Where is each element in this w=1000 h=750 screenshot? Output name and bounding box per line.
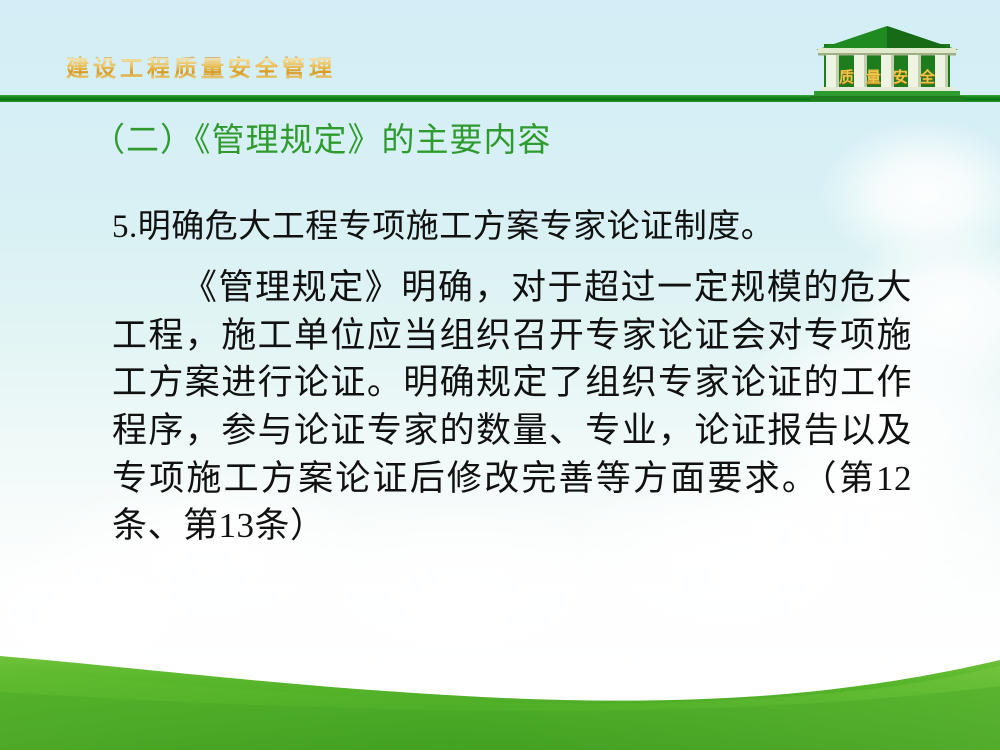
lead-line: 5.明确危大工程专项施工方案专家论证制度。	[112, 206, 912, 248]
cloud-decoration	[0, 530, 240, 700]
temple-icon	[806, 24, 968, 102]
header-title: 建设工程质量安全管理	[66, 58, 336, 81]
grass-foreground	[0, 630, 1000, 750]
grass-shape	[0, 630, 1000, 750]
slide-body: 5.明确危大工程专项施工方案专家论证制度。 《管理规定》明确，对于超过一定规模的…	[112, 206, 912, 550]
quality-safety-temple-logo: 质量安全	[806, 24, 968, 102]
section-heading: （二）《管理规定》的主要内容	[92, 122, 552, 162]
slide-header: 建设工程质量安全管理 建设工程质量安全管理	[0, 0, 1000, 104]
slide-canvas: 建设工程质量安全管理 建设工程质量安全管理	[0, 0, 1000, 750]
body-paragraph: 《管理规定》明确，对于超过一定规模的危大工程，施工单位应当组织召开专家论证会对专…	[112, 264, 912, 550]
